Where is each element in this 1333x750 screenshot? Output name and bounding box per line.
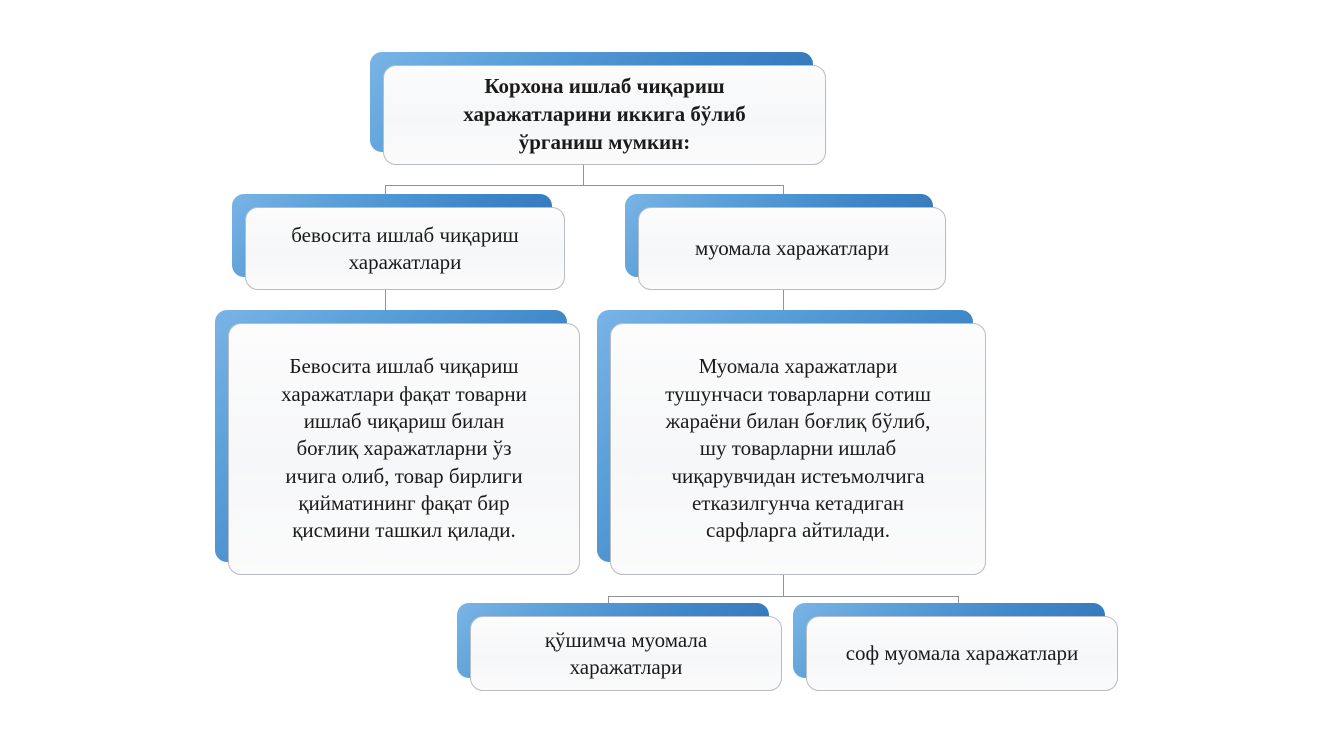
node-direct-costs-description-label: Бевосита ишлаб чиқариш харажатлари фақат… bbox=[281, 353, 527, 544]
diagram-canvas: Корхона ишлаб чиқариш харажатларини икки… bbox=[0, 0, 1333, 750]
node-direct-costs-card: бевосита ишлаб чиқариш харажатлари bbox=[245, 207, 565, 290]
node-direct-costs[interactable]: бевосита ишлаб чиқариш харажатлари bbox=[245, 207, 565, 290]
node-circulation-costs-card: муомала харажатлари bbox=[638, 207, 946, 290]
node-circulation-costs-description[interactable]: Муомала харажатлари тушунчаси товарларни… bbox=[610, 323, 986, 575]
node-circulation-costs-description-card: Муомала харажатлари тушунчаси товарларни… bbox=[610, 323, 986, 575]
node-circulation-costs[interactable]: муомала харажатлари bbox=[638, 207, 946, 290]
connector-root-stem bbox=[583, 164, 584, 185]
node-circulation-costs-label: муомала харажатлари bbox=[695, 235, 889, 261]
node-pure-circulation-costs-label: соф муомала харажатлари bbox=[846, 640, 1079, 666]
node-pure-circulation-costs[interactable]: соф муомала харажатлари bbox=[806, 616, 1118, 691]
node-circulation-costs-description-label: Муомала харажатлари тушунчаси товарларни… bbox=[665, 353, 931, 544]
connector-level3-bus bbox=[608, 596, 958, 597]
node-root-card: Корхона ишлаб чиқариш харажатларини икки… bbox=[383, 65, 826, 165]
connector-level1-bus bbox=[385, 185, 783, 186]
node-root-label: Корхона ишлаб чиқариш харажатларини икки… bbox=[463, 73, 745, 156]
node-additional-circulation-costs-label: қўшимча муомала харажатлари bbox=[545, 627, 707, 680]
node-direct-costs-description-card: Бевосита ишлаб чиқариш харажатлари фақат… bbox=[228, 323, 580, 575]
node-direct-costs-label: бевосита ишлаб чиқариш харажатлари bbox=[291, 222, 518, 275]
node-direct-costs-description[interactable]: Бевосита ишлаб чиқариш харажатлари фақат… bbox=[228, 323, 580, 575]
node-pure-circulation-costs-card: соф муомала харажатлари bbox=[806, 616, 1118, 691]
connector-circulation-desc-stem bbox=[783, 575, 784, 596]
node-root[interactable]: Корхона ишлаб чиқариш харажатларини икки… bbox=[383, 65, 826, 165]
node-additional-circulation-costs-card: қўшимча муомала харажатлари bbox=[470, 616, 782, 691]
node-additional-circulation-costs[interactable]: қўшимча муомала харажатлари bbox=[470, 616, 782, 691]
